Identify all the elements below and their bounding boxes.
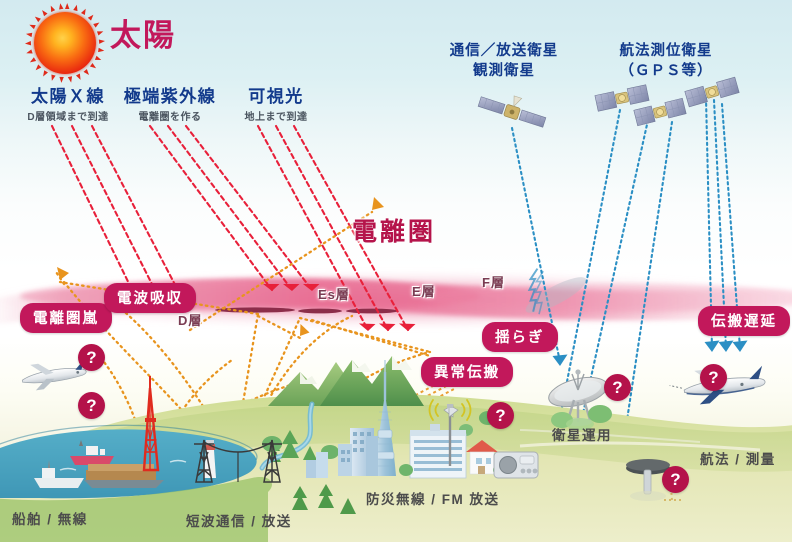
layer-label-d: D層 — [178, 314, 202, 329]
satellite-dish-icon — [546, 369, 612, 430]
question-mark-satellite-dish[interactable]: ? — [604, 374, 631, 401]
badge-anomalous-propagation[interactable]: 異常伝搬 — [421, 357, 513, 387]
satellite-label-gps-line1: 航法測位衛星 — [592, 42, 740, 62]
badge-propagation-delay[interactable]: 伝搬遅延 — [698, 306, 790, 336]
ray-label-visible: 可視光 地上まで到達 — [218, 82, 334, 123]
ray-subtitle-visible: 地上まで到達 — [218, 108, 334, 123]
ray-title-euv: 極端紫外線 — [110, 82, 230, 107]
question-mark-tower-hf[interactable]: ? — [78, 392, 105, 419]
comm-broadcast-satellite-icon — [478, 86, 549, 128]
aircraft-hf-icon — [20, 357, 87, 392]
ground-label-shortwave: 短波通信 / 放送 — [186, 514, 292, 530]
gps-satellite-icon-3 — [685, 77, 739, 107]
badge-scintillation[interactable]: 揺らぎ — [482, 322, 558, 352]
satellite-label-gps-line2: （ＧＰＳ等） — [592, 62, 740, 82]
layer-label-e: E層 — [412, 285, 436, 300]
ray-subtitle-euv: 電離圏を作る — [110, 108, 230, 123]
layer-label-f: F層 — [482, 276, 505, 291]
ground-label-satellite-operation: 衛星運用 — [552, 428, 612, 444]
satellite-label-comm-line2: 観測衛星 — [424, 62, 584, 82]
radio-receiver-icon — [494, 452, 538, 478]
mountains — [268, 356, 424, 406]
sun-icon — [34, 12, 96, 74]
satellite-label-comm-line1: 通信／放送衛星 — [424, 42, 584, 62]
ray-label-euv: 極端紫外線 電離圏を作る — [110, 82, 230, 123]
badge-radio-absorption[interactable]: 電波吸収 — [104, 283, 196, 313]
badge-ionospheric-storm[interactable]: 電離圏嵐 — [20, 303, 112, 333]
satellite-label-gps: 航法測位衛星 （ＧＰＳ等） — [592, 42, 740, 81]
ground-label-ships-radio: 船舶 / 無線 — [12, 512, 88, 528]
question-mark-aircraft-hf[interactable]: ? — [78, 344, 105, 371]
gps-satellite-icon-2 — [634, 98, 686, 126]
question-mark-disaster-fm[interactable]: ? — [487, 402, 514, 429]
layer-label-es: Es層 — [318, 288, 350, 303]
satellite-label-comm: 通信／放送衛星 観測衛星 — [424, 42, 584, 81]
sun-label: 太陽 — [110, 18, 176, 54]
ground-label-disaster-radio-fm: 防災無線 / FM 放送 — [366, 492, 500, 508]
infographic-canvas: 太陽 太陽Ｘ線 D層領域まで到達 極端紫外線 電離圏を作る 可視光 地上まで到達… — [0, 0, 792, 542]
question-mark-aircraft-gps[interactable]: ? — [700, 364, 727, 391]
gps-satellite-icon-1 — [595, 85, 649, 111]
ground-label-navigation-survey: 航法 / 測量 — [700, 452, 776, 468]
ionosphere-title: 電離圏 — [352, 218, 436, 247]
question-mark-gps-survey[interactable]: ? — [662, 466, 689, 493]
ray-title-visible: 可視光 — [218, 82, 334, 107]
